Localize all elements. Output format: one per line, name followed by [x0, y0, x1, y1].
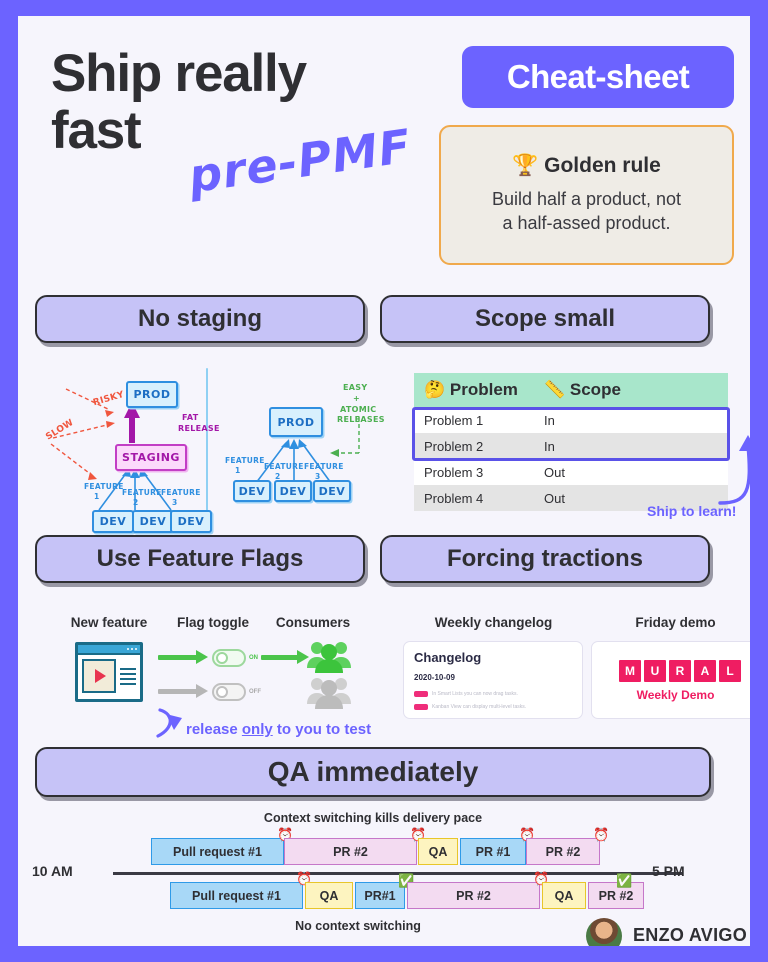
- arrow-off-left-head: [196, 684, 208, 698]
- changelog-item-text: Kanban View can display multi-level task…: [432, 704, 526, 710]
- flag-toggle-off[interactable]: [212, 683, 246, 701]
- table-row[interactable]: Problem 3 Out: [414, 459, 728, 485]
- table-row[interactable]: Problem 2 In: [414, 433, 728, 459]
- changelog-card-title: Changelog: [414, 650, 481, 665]
- cell-problem: Problem 4: [414, 491, 538, 506]
- left-feature-1-label: FEATURE: [84, 482, 124, 491]
- context-switching-caption: Context switching kills delivery pace: [35, 811, 711, 825]
- timeline-block[interactable]: PR #2: [526, 838, 600, 865]
- cheat-sheet-badge: Cheat-sheet: [462, 46, 734, 108]
- column-header-scope: 📏 Scope: [538, 380, 728, 400]
- forcing-col-label-weekly-changelog: Weekly changelog: [406, 615, 581, 630]
- right-dev-box-1: DEV: [233, 480, 271, 502]
- header: Ship really fast pre-PMF Cheat-sheet 🏆 G…: [18, 16, 750, 266]
- label-easy: EASY: [343, 383, 367, 393]
- column-header-problem: 🤔 Problem: [414, 380, 538, 400]
- arrow-on-left: [158, 655, 198, 660]
- mural-weekly-demo-caption: Weekly Demo: [619, 688, 732, 702]
- avatar: [586, 918, 622, 946]
- left-feature-1-num: 1: [94, 492, 100, 501]
- scope-table-header-row: 🤔 Problem 📏 Scope: [414, 373, 728, 407]
- mural-letter: R: [669, 660, 691, 682]
- release-only-annotation: release only to you to test: [186, 721, 371, 738]
- flag-toggle-off-label: OFF: [249, 689, 261, 695]
- no-context-switching-caption: No context switching: [223, 919, 493, 933]
- scope-table: 🤔 Problem 📏 Scope Problem 1 In Problem 2…: [414, 373, 728, 511]
- changelog-item: In Smart Lists you can now drag tasks.: [414, 691, 518, 697]
- cell-problem: Problem 1: [414, 413, 538, 428]
- consumers-green-icon: [305, 640, 355, 674]
- left-feature-3-num: 3: [172, 498, 178, 507]
- table-row[interactable]: Problem 1 In: [414, 407, 728, 433]
- label-plus: +: [353, 394, 360, 404]
- left-dev-box-2: DEV: [132, 510, 174, 533]
- timeline-block[interactable]: PR #1: [460, 838, 526, 865]
- section-heading-forcing-tractions: Forcing tractions: [380, 535, 710, 583]
- timeline-block[interactable]: PR #2: [284, 838, 417, 865]
- timeline-start-time: 10 AM: [32, 863, 73, 879]
- poster-canvas: Ship really fast pre-PMF Cheat-sheet 🏆 G…: [18, 16, 750, 946]
- check-icon: ✅: [616, 874, 632, 887]
- left-feature-2-num: 2: [133, 498, 139, 507]
- changelog-card-date: 2020-10-09: [414, 673, 455, 682]
- cell-scope: In: [538, 439, 728, 454]
- right-prod-box: PROD: [269, 407, 323, 437]
- flag-toggle-on-label: ON: [249, 655, 258, 661]
- mural-letter: A: [694, 660, 716, 682]
- feature-flags-col-label-new-feature: New feature: [48, 615, 170, 630]
- flag-toggle-on[interactable]: [212, 649, 246, 667]
- mural-letter: U: [644, 660, 666, 682]
- section-heading-feature-flags: Use Feature Flags: [35, 535, 365, 583]
- left-feature-3-label: FEATURE: [161, 488, 201, 497]
- label-fat-release-1: FAT: [182, 413, 198, 423]
- timeline-block[interactable]: QA: [305, 882, 353, 909]
- golden-rule-body-line2: a half-assed product.: [502, 212, 670, 236]
- cell-scope: In: [538, 413, 728, 428]
- changelog-new-badge: [414, 691, 428, 697]
- timeline-block[interactable]: Pull request #1: [170, 882, 303, 909]
- timeline-end-time: 5 PM: [652, 863, 685, 879]
- author-name: ENZO AVIGO: [633, 925, 747, 946]
- timeline-block[interactable]: Pull request #1: [151, 838, 284, 865]
- section-heading-scope-small: Scope small: [380, 295, 710, 343]
- ship-to-learn-arrow: [718, 431, 750, 511]
- arrow-on-right: [261, 655, 299, 660]
- timeline-block[interactable]: QA: [542, 882, 586, 909]
- changelog-item: Kanban View can display multi-level task…: [414, 704, 526, 710]
- golden-rule-body-line1: Build half a product, not: [492, 188, 681, 212]
- mural-logo: M U R A L: [619, 660, 741, 682]
- cell-problem: Problem 3: [414, 465, 538, 480]
- left-staging-box: STAGING: [115, 444, 187, 471]
- consumers-grey-icon: [305, 676, 355, 710]
- golden-rule-card: 🏆 Golden rule Build half a product, not …: [439, 125, 734, 265]
- page-title-line1: Ship really: [51, 46, 306, 103]
- right-dev-box-2: DEV: [274, 480, 312, 502]
- feature-flags-col-label-consumers: Consumers: [261, 615, 365, 630]
- left-dev-box-1: DEV: [92, 510, 134, 533]
- cell-problem: Problem 2: [414, 439, 538, 454]
- feature-flags-col-label-flag-toggle: Flag toggle: [158, 615, 268, 630]
- release-note-pre: release: [186, 721, 242, 738]
- ship-to-learn-annotation: Ship to learn!: [647, 503, 736, 519]
- right-feature-1-label: FEATURE: [225, 456, 265, 465]
- forcing-col-label-friday-demo: Friday demo: [598, 615, 750, 630]
- label-atomic: ATOMIC: [340, 405, 376, 415]
- right-dev-box-3: DEV: [313, 480, 351, 502]
- right-feature-3-num: 3: [315, 472, 321, 481]
- arrow-off-left: [158, 689, 198, 694]
- arrow-on-left-head: [196, 650, 208, 664]
- new-feature-browser-icon: [75, 642, 143, 702]
- release-note-only: only: [242, 721, 273, 738]
- label-releases: RELEASES: [337, 415, 385, 425]
- label-fat-release-2: RELEASE: [178, 424, 220, 434]
- changelog-item-text: In Smart Lists you can now drag tasks.: [432, 691, 518, 697]
- changelog-new-badge: [414, 704, 428, 710]
- right-feature-2-num: 2: [275, 472, 281, 481]
- left-feature-2-label: FEATURE: [122, 488, 162, 497]
- timeline-block[interactable]: PR #2: [407, 882, 540, 909]
- mural-letter: M: [619, 660, 641, 682]
- golden-rule-heading: 🏆 Golden rule: [512, 154, 661, 178]
- release-note-post: to you to test: [273, 721, 371, 738]
- section-heading-qa-immediately: QA immediately: [35, 747, 711, 797]
- alarm-icon: ⏰: [593, 828, 609, 841]
- left-dev-box-3: DEV: [170, 510, 212, 533]
- right-feature-3-label: FEATURE: [304, 462, 344, 471]
- left-prod-box: PROD: [126, 381, 178, 408]
- poster-frame: Ship really fast pre-PMF Cheat-sheet 🏆 G…: [0, 0, 768, 962]
- cell-scope: Out: [538, 465, 728, 480]
- section-heading-no-staging: No staging: [35, 295, 365, 343]
- right-feature-2-label: FEATURE: [264, 462, 304, 471]
- timeline-block[interactable]: QA: [418, 838, 458, 865]
- mural-letter: L: [719, 660, 741, 682]
- right-feature-1-num: 1: [235, 466, 241, 475]
